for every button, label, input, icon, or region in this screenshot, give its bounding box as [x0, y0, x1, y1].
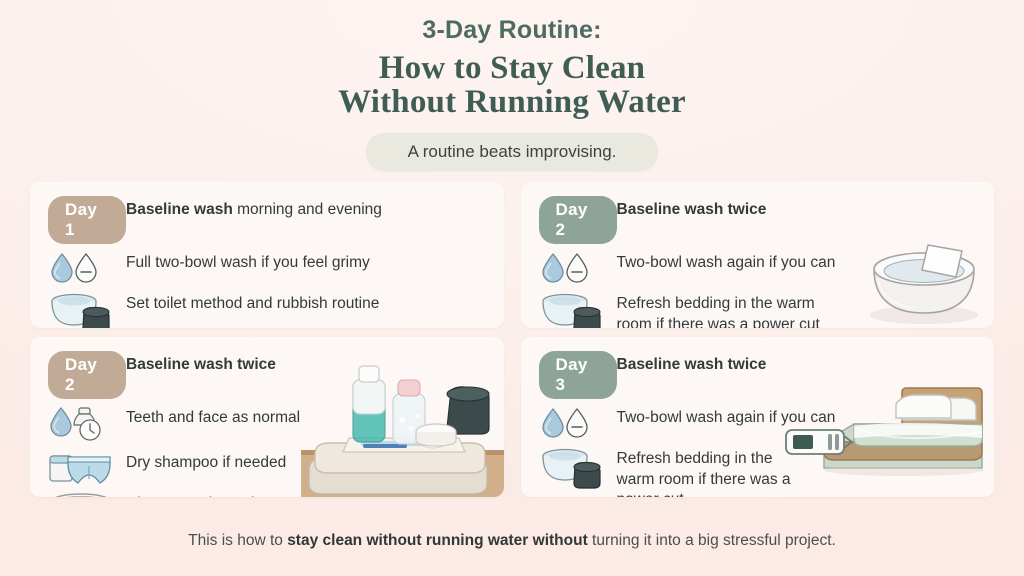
day-badge: Day 2	[48, 351, 126, 399]
day-badge: Day 3	[539, 351, 617, 399]
bowl-and-bin-icon	[48, 292, 118, 328]
icon-slot	[48, 451, 126, 485]
routine-card-day-3: Day 3 Baseline wash twice Two-bowl wash …	[521, 337, 995, 497]
card-row: Two-bowl wash again if you can	[539, 406, 995, 440]
infographic-page: 3-Day Routine: How to Stay Clean Without…	[0, 0, 1024, 576]
droplet-pair-icon	[48, 251, 106, 285]
row-regular-text: Two-bowl wash again if you can	[617, 409, 836, 426]
card-row-text: Refresh bedding in the warm room if ther…	[617, 292, 852, 328]
routine-card-day-2-bottom: Day 2 Baseline wash twice	[30, 337, 504, 497]
icon-slot	[48, 492, 126, 497]
droplet-pair-icon	[539, 251, 597, 285]
card-row-text: Two-bowl wash again if you can	[617, 251, 836, 274]
badge-slot: Day 2	[48, 351, 126, 399]
card-rows: Day 1 Baseline wash morning and evening …	[30, 182, 504, 328]
card-row: Refresh bedding in the warm room if ther…	[539, 292, 995, 328]
badge-slot: Day 1	[48, 196, 126, 244]
row-regular-text: Dry shampoo if needed	[126, 454, 286, 471]
card-grid: Day 1 Baseline wash morning and evening …	[30, 182, 994, 497]
row-regular-text: Refresh bedding in the warm room if ther…	[617, 450, 791, 497]
page-title: How to Stay Clean Without Running Water	[0, 51, 1024, 119]
routine-card-day-1: Day 1 Baseline wash morning and evening …	[30, 182, 504, 328]
day-badge: Day 1	[48, 196, 126, 244]
footer-note: This is how to stay clean without runnin…	[0, 532, 1024, 550]
card-row: Two-bowl wash again if you can	[539, 251, 995, 285]
subtitle-pill-wrap: A routine beats improvising.	[0, 133, 1024, 171]
card-row-text: Change socks and underwear	[126, 492, 276, 497]
card-row-text: Baseline wash twice	[617, 196, 767, 221]
card-row: Day 3 Baseline wash twice	[539, 351, 995, 399]
card-row-text: Dry shampoo if needed	[126, 451, 286, 474]
card-row: Full two-bowl wash if you feel grimy	[48, 251, 504, 285]
footer-bold: stay clean without running water without	[287, 532, 588, 549]
bowl-and-bin-icon	[539, 292, 609, 328]
row-regular-text: Full two-bowl wash if you feel grimy	[126, 254, 370, 271]
card-row-text: Teeth and face as normal	[126, 406, 300, 429]
row-regular-text: morning and evening	[233, 201, 382, 218]
card-row-text: Two-bowl wash again if you can	[617, 406, 836, 429]
card-row: Teeth and face as normal	[48, 406, 504, 444]
icon-slot	[539, 406, 617, 440]
card-rows: Day 2 Baseline wash twice Two-bowl wash …	[521, 182, 995, 328]
row-bold-text: Baseline wash twice	[617, 356, 767, 373]
basin-icon	[48, 492, 114, 497]
card-row-text: Full two-bowl wash if you feel grimy	[126, 251, 370, 274]
badge-slot: Day 3	[539, 351, 617, 399]
footer-prefix: This is how to	[188, 532, 287, 549]
row-regular-text: Teeth and face as normal	[126, 409, 300, 426]
subtitle-pill: A routine beats improvising.	[366, 133, 659, 171]
card-row: Day 2 Baseline wash twice	[48, 351, 504, 399]
icon-slot	[539, 251, 617, 285]
card-rows: Day 2 Baseline wash twice	[30, 337, 504, 497]
card-row: Set toilet method and rubbish routine	[48, 292, 504, 328]
card-row-text: Baseline wash twice	[126, 351, 276, 376]
row-bold-text: Baseline wash twice	[126, 356, 276, 373]
footer-suffix: turning it into a big stressful project.	[588, 532, 836, 549]
row-regular-text: Refresh bedding in the warm room if ther…	[617, 295, 820, 328]
title-line-1: How to Stay Clean	[379, 50, 645, 86]
row-regular-text: Two-bowl wash again if you can	[617, 254, 836, 271]
card-row: Refresh bedding in the warm room if ther…	[539, 447, 995, 497]
card-row: Day 2 Baseline wash twice	[539, 196, 995, 244]
card-row-text: Baseline wash twice	[617, 351, 767, 376]
card-row-text: Set toilet method and rubbish routine	[126, 292, 379, 315]
underwear-icon	[48, 451, 114, 485]
routine-card-day-2-top: Day 2 Baseline wash twice Two-bowl wash …	[521, 182, 995, 328]
card-rows: Day 3 Baseline wash twice Two-bowl wash …	[521, 337, 995, 497]
card-row: Day 1 Baseline wash morning and evening	[48, 196, 504, 244]
droplet-bottle-clock-icon	[48, 406, 110, 444]
title-line-2: Without Running Water	[0, 85, 1024, 119]
card-row: Dry shampoo if needed	[48, 451, 504, 485]
header: 3-Day Routine: How to Stay Clean Without…	[0, 0, 1024, 171]
icon-slot	[48, 406, 126, 444]
bowl-and-bin-icon	[539, 447, 609, 491]
icon-slot	[48, 251, 126, 285]
droplet-pair-icon	[539, 406, 597, 440]
card-row: Change socks and underwear	[48, 492, 504, 497]
card-row-text: Baseline wash morning and evening	[126, 196, 382, 221]
row-regular-text: Change socks and underwear	[126, 495, 254, 497]
day-badge: Day 2	[539, 196, 617, 244]
row-regular-text: Set toilet method and rubbish routine	[126, 295, 379, 312]
row-bold-text: Baseline wash	[126, 201, 233, 218]
eyebrow-text: 3-Day Routine:	[0, 0, 1024, 45]
badge-slot: Day 2	[539, 196, 617, 244]
row-bold-text: Baseline wash twice	[617, 201, 767, 218]
icon-slot	[539, 292, 617, 328]
card-row-text: Refresh bedding in the warm room if ther…	[617, 447, 802, 497]
icon-slot	[48, 292, 126, 328]
icon-slot	[539, 447, 617, 491]
